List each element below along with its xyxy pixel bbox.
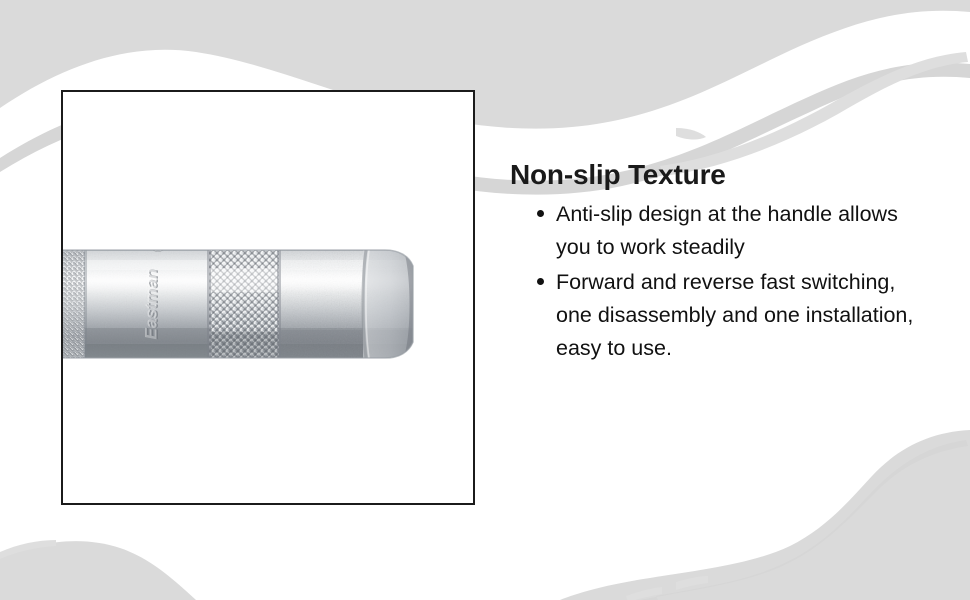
bottom-right-accent-dash-2 [626,587,662,600]
list-item: Forward and reverse fast switching, one … [510,266,930,365]
top-accent-dash [676,128,706,140]
bottom-right-accent-dash-1 [676,576,708,590]
product-feature-banner: Eastman Eastman [0,0,970,600]
bullet-text: Anti-slip design at the handle allows yo… [556,202,898,259]
bottom-right-gray-shape [560,430,970,600]
feature-heading: Non-slip Texture [510,158,930,192]
bottom-right-accent-line [640,440,968,600]
knurled-grip-band [207,244,281,364]
bullet-dot-icon [537,278,544,285]
product-photo-socket-tool: Eastman Eastman [63,92,473,503]
feature-text-column: Non-slip Texture Anti-slip design at the… [510,158,930,367]
product-image-frame: Eastman Eastman [61,90,475,505]
feature-bullet-list: Anti-slip design at the handle allows yo… [510,198,930,365]
svg-text:Eastman: Eastman [142,269,161,340]
list-item: Anti-slip design at the handle allows yo… [510,198,930,264]
bullet-dot-icon [537,210,544,217]
bullet-text: Forward and reverse fast switching, one … [556,270,913,360]
bottom-left-accent-tick [0,540,56,559]
bottom-left-gray-shape [0,541,196,600]
